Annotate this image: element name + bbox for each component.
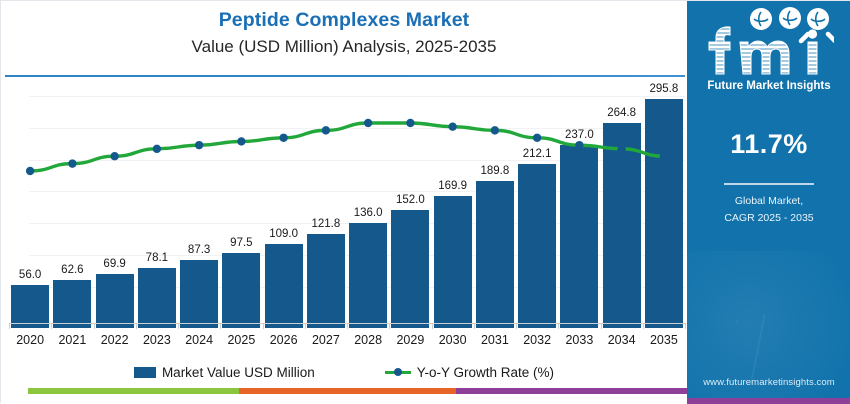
line-marker-2034[interactable] [617, 145, 625, 153]
x-axis-label-2026: 2026 [262, 333, 306, 347]
legend-item-growth-rate[interactable]: Y-o-Y Growth Rate (%) [385, 365, 554, 380]
x-axis-label-2024: 2024 [177, 333, 221, 347]
x-axis-label-2021: 2021 [50, 333, 94, 347]
line-marker-2030[interactable] [448, 122, 456, 130]
growth-rate-line [30, 123, 664, 171]
legend-label: Y-o-Y Growth Rate (%) [417, 365, 554, 380]
page-title: Peptide Complexes Market [1, 9, 687, 32]
segment-orange [239, 388, 456, 394]
x-axis-label-2022: 2022 [93, 333, 137, 347]
line-marker-2031[interactable] [491, 126, 499, 134]
page-subtitle: Value (USD Million) Analysis, 2025-2035 [1, 37, 687, 57]
globe-icon [750, 8, 772, 30]
x-axis-tick [51, 323, 52, 329]
bottom-color-strip [28, 388, 687, 394]
x-axis-label-2031: 2031 [473, 333, 517, 347]
line-marker-2022[interactable] [110, 152, 118, 160]
cagr-caption: Global Market, CAGR 2025 - 2035 [687, 193, 850, 227]
x-axis-tick [474, 323, 475, 329]
cagr-divider [724, 183, 814, 185]
x-axis-tick [263, 323, 264, 329]
line-marker-2033[interactable] [575, 141, 583, 149]
chart-infographic: Peptide Complexes Market Value (USD Mill… [0, 0, 850, 403]
person-globe-icon [779, 7, 801, 29]
segment-green [28, 388, 239, 394]
x-axis-tick [389, 323, 390, 329]
x-axis-label-2033: 2033 [557, 333, 601, 347]
segment-purple [456, 388, 687, 394]
x-axis-tick [220, 323, 221, 329]
line-marker-2024[interactable] [195, 141, 203, 149]
chart-area: Peptide Complexes Market Value (USD Mill… [1, 1, 687, 404]
line-marker-2025[interactable] [237, 137, 245, 145]
line-marker-2035[interactable] [660, 152, 668, 160]
x-axis-tick [178, 323, 179, 329]
x-axis-label-2034: 2034 [600, 333, 644, 347]
chart-header: Peptide Complexes Market Value (USD Mill… [1, 1, 687, 76]
fmi-logo[interactable]: Future Market Insights [687, 7, 850, 95]
cagr-caption-line1: Global Market, [687, 193, 850, 210]
x-axis-label-2028: 2028 [346, 333, 390, 347]
x-axis-tick [9, 323, 10, 329]
x-axis-tick [305, 323, 306, 329]
line-marker-2020[interactable] [26, 167, 34, 175]
line-marker-2028[interactable] [364, 119, 372, 127]
legend-item-market-value[interactable]: Market Value USD Million [134, 365, 315, 380]
line-marker-2026[interactable] [279, 134, 287, 142]
line-marker-2023[interactable] [153, 145, 161, 153]
x-axis-label-2027: 2027 [304, 333, 348, 347]
line-marker-2021[interactable] [68, 159, 76, 167]
line-marker-2029[interactable] [406, 119, 414, 127]
x-axis-tick [432, 323, 433, 329]
line-swatch-icon [385, 367, 411, 378]
x-axis-label-2029: 2029 [388, 333, 432, 347]
x-axis-label-2032: 2032 [515, 333, 559, 347]
panel-accent-bar [687, 398, 850, 404]
x-axis-tick [685, 323, 686, 329]
legend: Market Value USD Million Y-o-Y Growth Ra… [1, 361, 687, 383]
bar-swatch-icon [134, 367, 156, 378]
x-axis-tick [601, 323, 602, 329]
header-divider [5, 75, 685, 77]
x-axis-tick [516, 323, 517, 329]
x-axis-label-2030: 2030 [431, 333, 475, 347]
globe-person-icon [807, 8, 829, 30]
x-axis-label-2023: 2023 [135, 333, 179, 347]
x-axis-tick [94, 323, 95, 329]
cagr-value: 11.7% [687, 129, 850, 160]
x-axis-tick [643, 323, 644, 329]
x-axis-label-2025: 2025 [219, 333, 263, 347]
line-marker-2027[interactable] [322, 126, 330, 134]
x-axis-label-2035: 2035 [642, 333, 686, 347]
brand-panel: Future Market Insights 11.7% Global Mark… [687, 1, 850, 404]
logo-tagline: Future Market Insights [707, 80, 830, 92]
website-url[interactable]: www.futuremarketinsights.com [687, 377, 850, 388]
legend-label: Market Value USD Million [162, 365, 315, 380]
x-axis-label-2020: 2020 [8, 333, 52, 347]
line-marker-2032[interactable] [533, 134, 541, 142]
x-axis-tick [347, 323, 348, 329]
x-axis-labels: 2020202120222023202420252026202720282029… [9, 333, 685, 353]
x-axis-tick [558, 323, 559, 329]
x-axis-tick [136, 323, 137, 329]
growth-rate-line-series [9, 83, 685, 328]
cagr-caption-line2: CAGR 2025 - 2035 [687, 210, 850, 227]
